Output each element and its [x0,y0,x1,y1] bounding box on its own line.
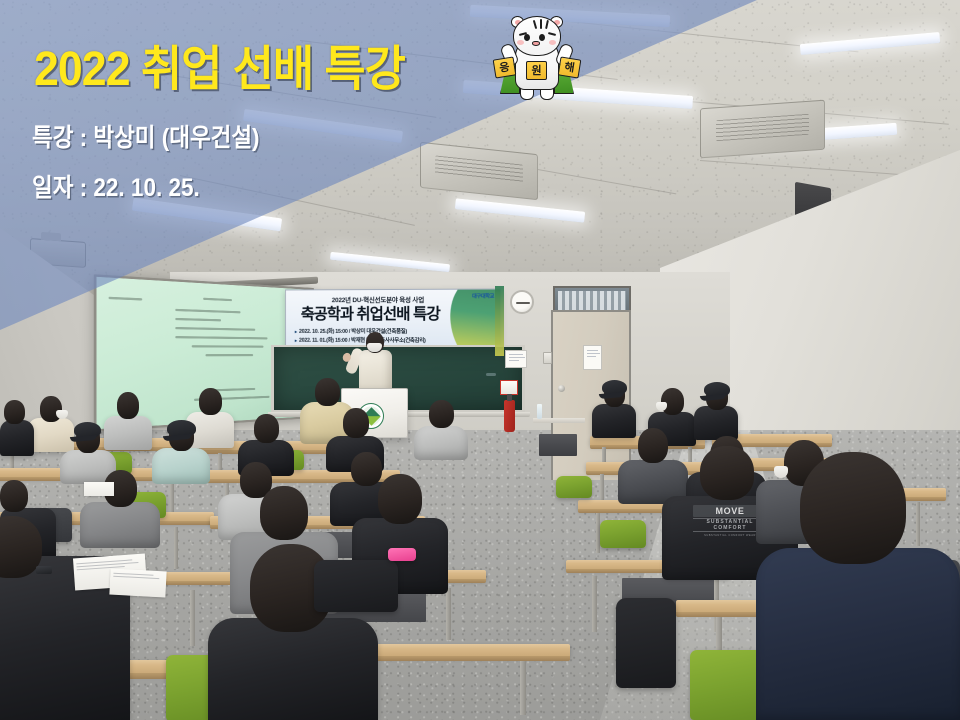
white-tiger-mascot: 응 원 해 [491,14,583,110]
handout-paper [109,569,166,598]
backpack [314,560,398,612]
tiger-eye-left [524,34,530,41]
tiger-cheek-right [549,40,556,45]
water-bottle [537,404,542,419]
backpack [616,598,676,688]
ceiling-air-conditioner [700,100,825,159]
tiger-nose [532,41,540,46]
wall-clock [510,290,534,314]
door-notice [583,345,602,370]
student [414,400,468,460]
board-marking [486,373,496,376]
tiger-head [513,16,561,56]
smartphone [36,566,52,574]
slide-left-column [109,297,153,308]
photo-poster: 2022년 DU-혁신선도분야 육성 사업 대구대학교 축공학과 취업선배 특강… [0,0,960,720]
pencil-case [388,548,416,561]
tiger-cheek-left [517,40,524,45]
student [0,516,130,720]
fire-extinguisher-sign [500,380,518,395]
window-curtain [495,286,504,356]
page-title: 2022 취업 선배 특강 [34,46,405,94]
student [0,400,34,456]
student [152,420,210,484]
tiger-eye-right [539,34,545,41]
handout-paper [84,482,114,496]
fire-extinguisher [504,400,515,432]
mascot-sign-1: 응 [493,56,517,78]
speaker-line: 특강 : 박상미 (대우건설) [32,126,260,151]
lecturer [352,332,400,394]
student [694,384,738,440]
banner-headline: 축공학과 취업선배 특강 [285,302,459,324]
chair [556,476,592,498]
date-line: 일자 : 22. 10. 25. [32,176,200,201]
chair [600,520,646,548]
mascot-sign-2: 원 [526,61,547,80]
door-knob [558,385,565,392]
side-table [533,418,585,460]
university-logo: 대구대학교 [472,293,494,300]
mascot-sign-3: 해 [558,56,582,78]
wall-notice [505,350,527,368]
student [756,452,960,720]
light-switch [543,352,552,364]
